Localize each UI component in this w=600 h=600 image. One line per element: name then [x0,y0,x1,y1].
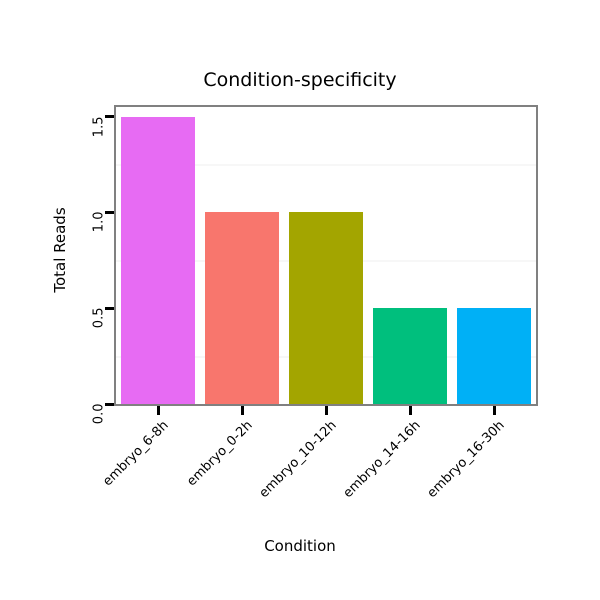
bar[interactable] [457,308,531,404]
x-axis-tick [409,406,412,415]
chart-root: Condition-specificity Total Reads Condit… [0,0,600,600]
plot-area [116,107,536,404]
x-axis-tick [493,406,496,415]
x-axis-tick [157,406,160,415]
bar[interactable] [121,117,195,404]
y-axis-tick-label: 1.0 [92,212,107,272]
chart-title: Condition-specificity [0,69,600,91]
bar[interactable] [373,308,447,404]
y-axis-tick-label: 0.5 [92,308,107,368]
y-axis-title: Total Reads [51,140,69,360]
x-axis-tick [241,406,244,415]
plot-panel [114,105,538,406]
y-axis-tick-label: 0.0 [92,404,107,464]
bar[interactable] [289,212,363,404]
y-axis-tick-label: 1.5 [92,116,107,176]
bar[interactable] [205,212,279,404]
x-axis-tick [325,406,328,415]
